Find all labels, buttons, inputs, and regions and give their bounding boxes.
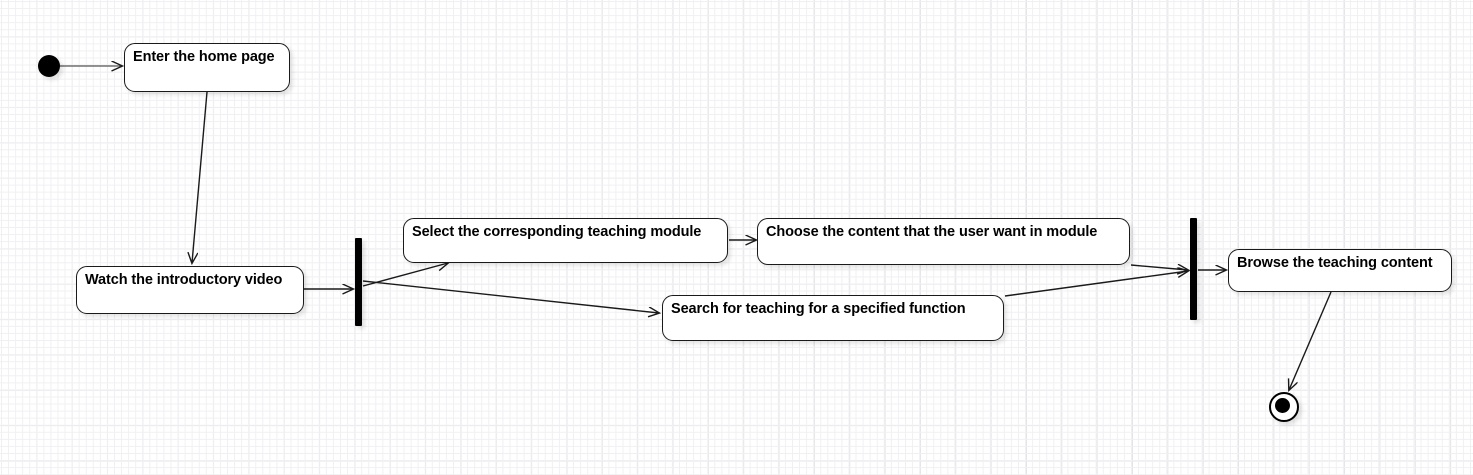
action-node-search-teaching-function[interactable]: Search for teaching for a specified func… <box>662 295 1004 341</box>
action-node-watch-introductory-video[interactable]: Watch the introductory video <box>76 266 304 314</box>
join-bar[interactable] <box>1190 218 1197 320</box>
action-node-enter-home-page[interactable]: Enter the home page <box>124 43 290 92</box>
initial-node[interactable] <box>38 55 60 77</box>
activity-diagram-canvas: Enter the home page Watch the introducto… <box>0 0 1473 475</box>
action-node-label: Select the corresponding teaching module <box>412 223 721 241</box>
action-node-label: Search for teaching for a specified func… <box>671 300 997 318</box>
fork-bar[interactable] <box>355 238 362 326</box>
action-node-browse-teaching-content[interactable]: Browse the teaching content <box>1228 249 1452 292</box>
action-node-label: Enter the home page <box>133 48 283 66</box>
action-node-label: Watch the introductory video <box>85 271 297 289</box>
edge-choose-content-to-join <box>1131 265 1188 270</box>
action-node-choose-content-in-module[interactable]: Choose the content that the user want in… <box>757 218 1130 265</box>
edge-fork-to-select-module <box>363 263 448 286</box>
edge-search-function-to-join <box>1005 271 1188 296</box>
action-node-label: Choose the content that the user want in… <box>766 223 1123 241</box>
edge-fork-to-search-function <box>363 281 659 313</box>
action-node-label: Browse the teaching content <box>1237 254 1445 272</box>
final-node-inner <box>1275 398 1290 413</box>
edge-browse-content-to-end <box>1289 292 1331 390</box>
edge-enter-home-to-watch-video <box>192 92 207 263</box>
action-node-select-teaching-module[interactable]: Select the corresponding teaching module <box>403 218 728 263</box>
final-node[interactable] <box>1269 392 1299 422</box>
